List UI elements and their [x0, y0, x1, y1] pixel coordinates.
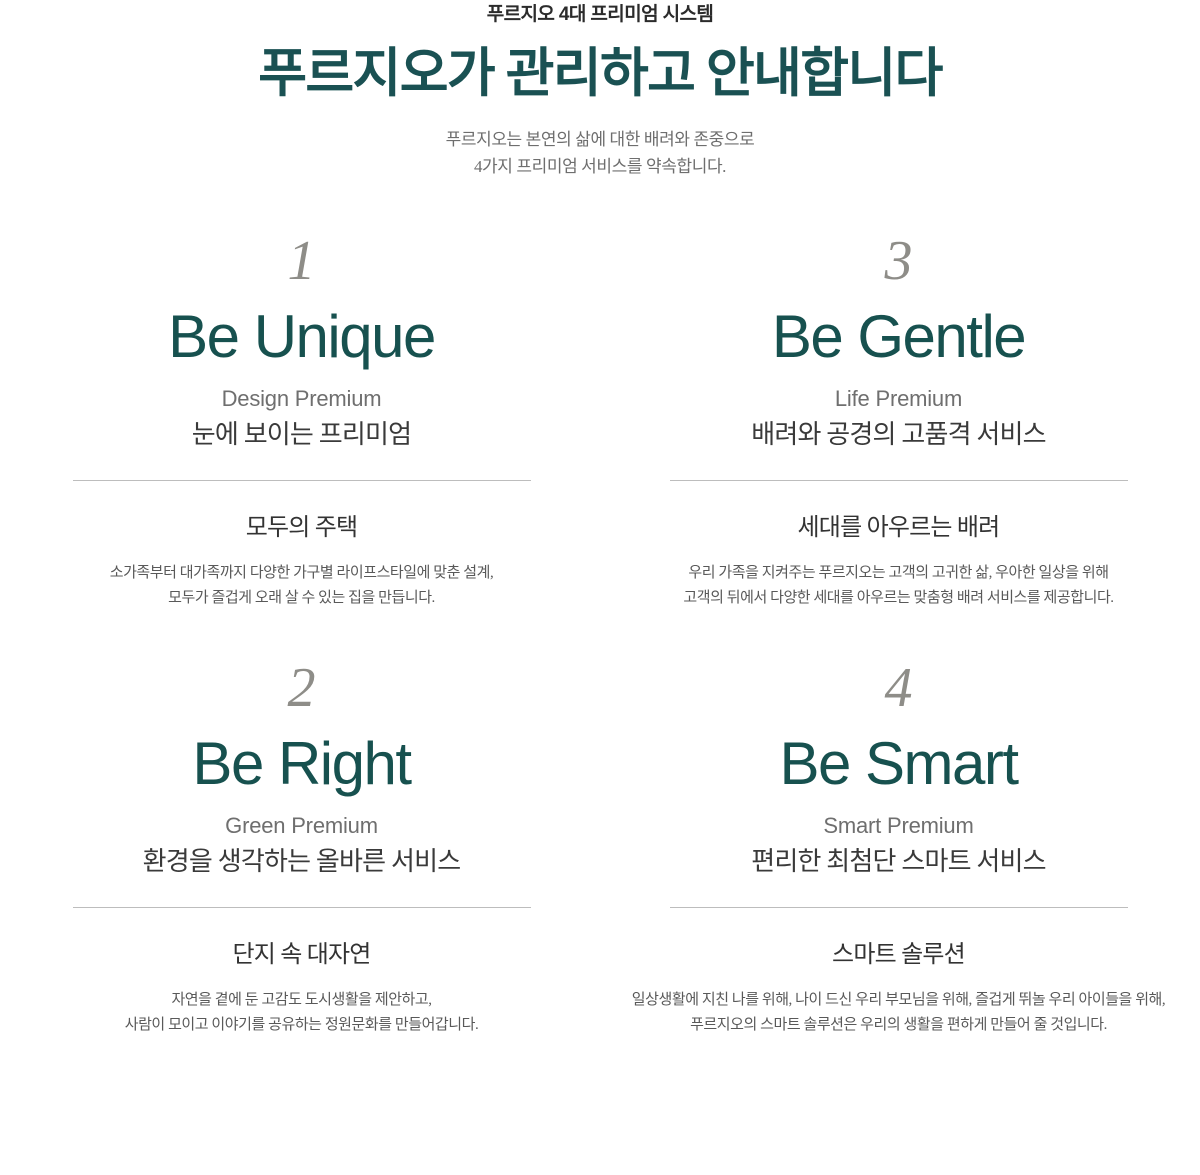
eyebrow-label: 푸르지오 4대 프리미엄 시스템 [0, 2, 1200, 28]
card-description: 우리 가족을 지켜주는 푸르지오는 고객의 고귀한 삶, 우아한 일상을 위해 … [627, 561, 1170, 611]
premium-card-be-unique[interactable]: 1 Be Unique Design Premium 눈에 보이는 프리미엄 모… [30, 208, 573, 611]
card-divider [670, 480, 1128, 481]
card-description-line-1: 우리 가족을 지켜주는 푸르지오는 고객의 고귀한 삶, 우아한 일상을 위해 [627, 561, 1170, 586]
card-title: Be Gentle [627, 302, 1170, 372]
card-number: 2 [30, 657, 573, 719]
page-title: 푸르지오가 관리하고 안내합니다 [0, 42, 1200, 106]
card-korean-subtitle: 배려와 공경의 고품격 서비스 [627, 416, 1170, 454]
card-divider [670, 907, 1128, 908]
page-header: 푸르지오 4대 프리미엄 시스템 푸르지오가 관리하고 안내합니다 푸르지오는 … [0, 0, 1200, 180]
card-korean-subtitle: 눈에 보이는 프리미엄 [30, 416, 573, 454]
premium-card-be-gentle[interactable]: 3 Be Gentle Life Premium 배려와 공경의 고품격 서비스… [627, 208, 1170, 611]
lead-paragraph: 푸르지오는 본연의 삶에 대한 배려와 존중으로 4가지 프리미엄 서비스를 약… [0, 126, 1200, 180]
card-number: 3 [627, 230, 1170, 292]
card-korean-subtitle: 환경을 생각하는 올바른 서비스 [30, 843, 573, 881]
card-description-line-2: 고객의 뒤에서 다양한 세대를 아우르는 맞춤형 배려 서비스를 제공합니다. [627, 586, 1170, 611]
card-description-line-2: 푸르지오의 스마트 솔루션은 우리의 생활을 편하게 만들어 줄 것입니다. [627, 1013, 1170, 1038]
card-description: 자연을 곁에 둔 고감도 도시생활을 제안하고, 사람이 모이고 이야기를 공유… [30, 988, 573, 1038]
lead-line-1: 푸르지오는 본연의 삶에 대한 배려와 존중으로 [446, 130, 755, 149]
card-english-subtitle: Green Premium [30, 811, 573, 841]
card-description-line-1: 소가족부터 대가족까지 다양한 가구별 라이프스타일에 맞춘 설계, [30, 561, 573, 586]
card-english-subtitle: Design Premium [30, 384, 573, 414]
card-section-title: 단지 속 대자연 [30, 938, 573, 972]
premium-card-be-right[interactable]: 2 Be Right Green Premium 환경을 생각하는 올바른 서비… [30, 611, 573, 1038]
premium-system-grid: 1 Be Unique Design Premium 눈에 보이는 프리미엄 모… [30, 180, 1170, 1038]
card-description-line-2: 사람이 모이고 이야기를 공유하는 정원문화를 만들어갑니다. [30, 1013, 573, 1038]
premium-card-be-smart[interactable]: 4 Be Smart Smart Premium 편리한 최첨단 스마트 서비스… [627, 611, 1170, 1038]
promo-page: 푸르지오 4대 프리미엄 시스템 푸르지오가 관리하고 안내합니다 푸르지오는 … [0, 0, 1200, 1175]
card-description: 소가족부터 대가족까지 다양한 가구별 라이프스타일에 맞춘 설계, 모두가 즐… [30, 561, 573, 611]
card-english-subtitle: Smart Premium [627, 811, 1170, 841]
card-section-title: 모두의 주택 [30, 511, 573, 545]
card-english-subtitle: Life Premium [627, 384, 1170, 414]
card-title: Be Unique [30, 302, 573, 372]
card-number: 1 [30, 230, 573, 292]
card-description-line-1: 일상생활에 지친 나를 위해, 나이 드신 우리 부모님을 위해, 즐겁게 뛰놀… [627, 988, 1170, 1013]
card-section-title: 스마트 솔루션 [627, 938, 1170, 972]
card-divider [73, 907, 531, 908]
card-description: 일상생활에 지친 나를 위해, 나이 드신 우리 부모님을 위해, 즐겁게 뛰놀… [627, 988, 1170, 1038]
card-description-line-2: 모두가 즐겁게 오래 살 수 있는 집을 만듭니다. [30, 586, 573, 611]
lead-line-2: 4가지 프리미엄 서비스를 약속합니다. [474, 157, 726, 176]
card-korean-subtitle: 편리한 최첨단 스마트 서비스 [627, 843, 1170, 881]
card-number: 4 [627, 657, 1170, 719]
card-title: Be Smart [627, 729, 1170, 799]
card-description-line-1: 자연을 곁에 둔 고감도 도시생활을 제안하고, [30, 988, 573, 1013]
card-section-title: 세대를 아우르는 배려 [627, 511, 1170, 545]
card-title: Be Right [30, 729, 573, 799]
card-divider [73, 480, 531, 481]
